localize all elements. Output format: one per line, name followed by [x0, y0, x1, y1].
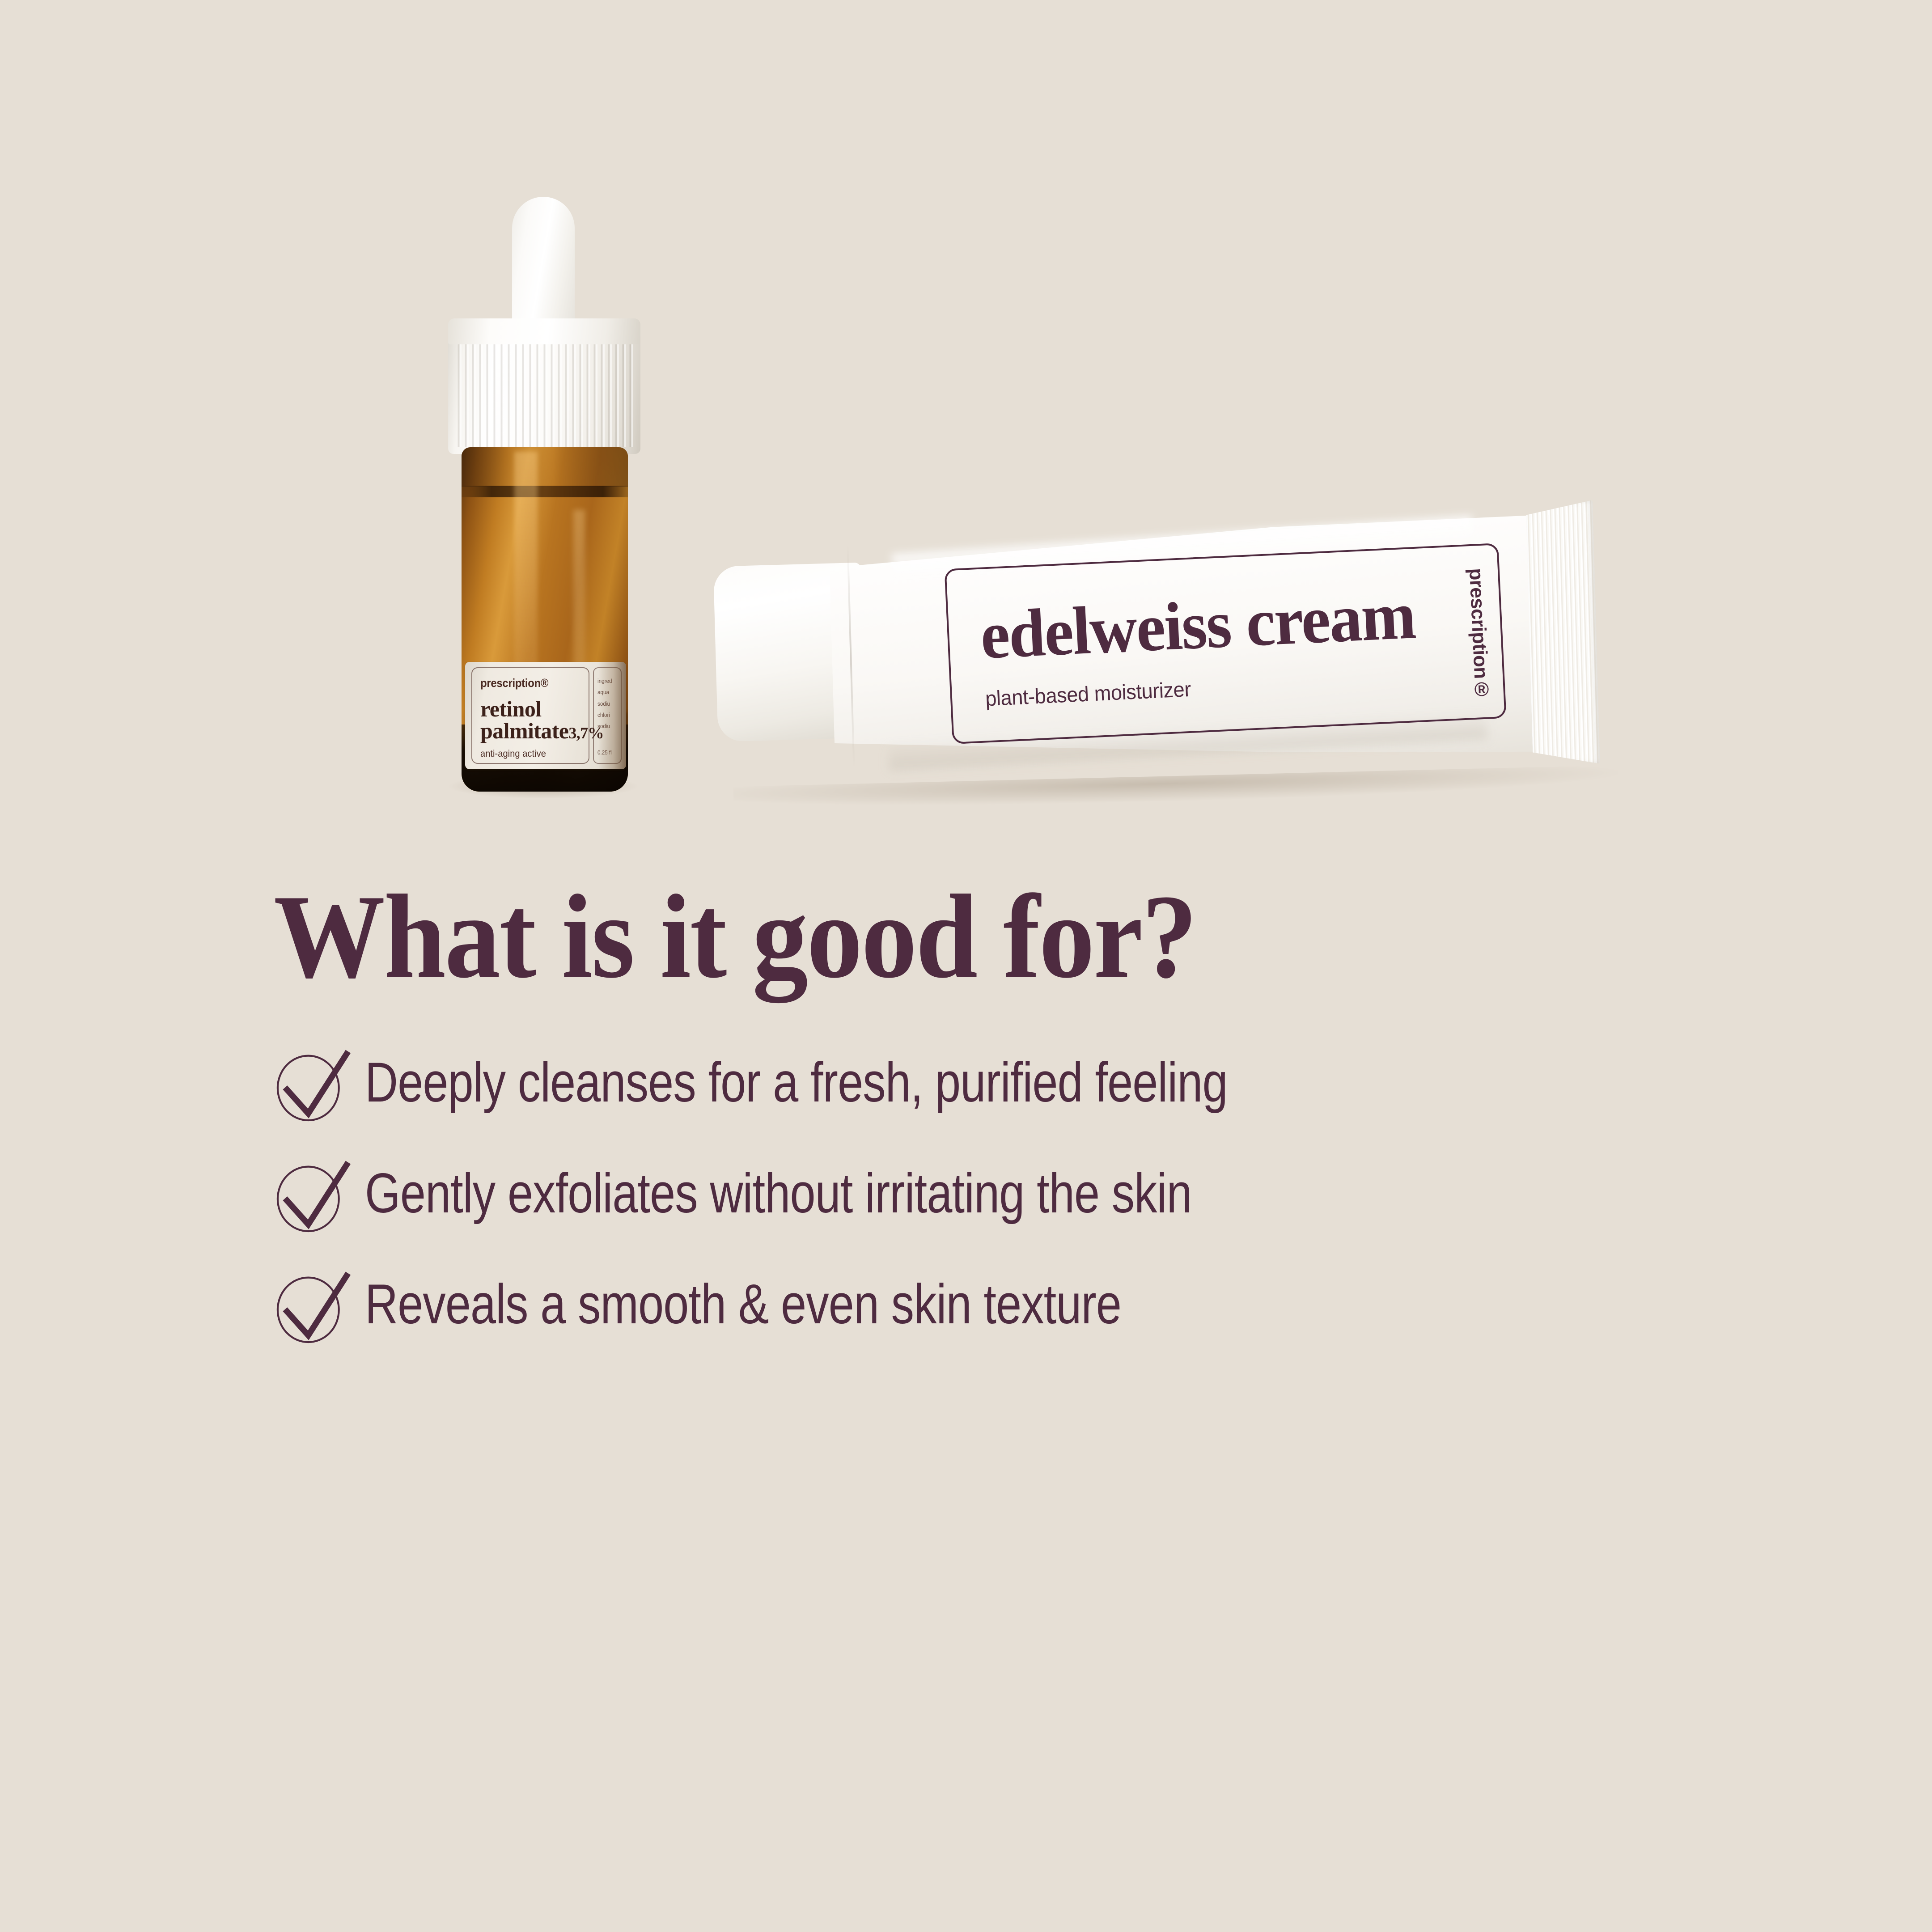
bottle-neck-ring	[462, 486, 628, 497]
ingredient-line: aqua	[597, 686, 619, 698]
list-item: Deeply cleanses for a fresh, purified fe…	[268, 1041, 1744, 1129]
benefits-content: What is it good for? Deeply cleanses for…	[0, 877, 1932, 1374]
bottle-shoulder	[462, 447, 628, 487]
dropper-bottle: prescription® retinol palmitate3,7% anti…	[425, 197, 657, 792]
bottle-volume: 0.25 fl	[597, 749, 612, 756]
ingredient-line: sodiu	[597, 698, 619, 709]
list-item: Reveals a smooth & even skin texture	[268, 1263, 1744, 1351]
tube-crimped-end	[1525, 500, 1600, 766]
dropper-bottle-label: prescription® retinol palmitate3,7% anti…	[465, 662, 626, 769]
product-benefits-card: prescription® retinol palmitate3,7% anti…	[0, 0, 1932, 1932]
check-circle-icon	[268, 1266, 353, 1351]
ingredient-line: sodiu	[597, 720, 619, 732]
tube-descriptor: plant-based moisturizer	[985, 677, 1191, 711]
cream-tube-label: edelweiss cream plant-based moisturizer …	[944, 543, 1506, 744]
bottle-brand-text: prescription®	[480, 676, 580, 690]
bottle-descriptor: anti-aging active	[480, 749, 583, 759]
bottle-product-line2-row: palmitate3,7%	[480, 720, 589, 742]
bottle-label-frame: prescription® retinol palmitate3,7% anti…	[471, 667, 589, 764]
product-stage: prescription® retinol palmitate3,7% anti…	[0, 0, 1932, 872]
page-title: What is it good for?	[274, 877, 1816, 996]
check-circle-icon	[268, 1044, 353, 1129]
bottle-product-line2: palmitate	[480, 718, 568, 743]
benefit-text: Gently exfoliates without irritating the…	[365, 1152, 1496, 1229]
bottle-ingredients-panel: ingred aqua sodiu chlori sodiu 0.25 fl	[593, 667, 622, 764]
tube-brand-text: prescription®	[1465, 568, 1493, 700]
benefit-text: Reveals a smooth & even skin texture	[365, 1263, 1496, 1340]
dropper-cap-collar	[448, 318, 640, 344]
bottle-product-name: retinol palmitate3,7%	[480, 698, 589, 741]
ingredient-line: ingred	[597, 675, 619, 686]
tube-product-name: edelweiss cream	[979, 581, 1416, 669]
bottle-product-line1: retinol	[480, 698, 589, 720]
check-circle-icon	[268, 1155, 353, 1240]
list-item: Gently exfoliates without irritating the…	[268, 1152, 1744, 1240]
benefit-text: Deeply cleanses for a fresh, purified fe…	[365, 1041, 1496, 1118]
ingredient-line: chlori	[597, 709, 619, 720]
cream-tube: edelweiss cream plant-based moisturizer …	[712, 479, 1645, 809]
benefits-list: Deeply cleanses for a fresh, purified fe…	[268, 1041, 1744, 1351]
